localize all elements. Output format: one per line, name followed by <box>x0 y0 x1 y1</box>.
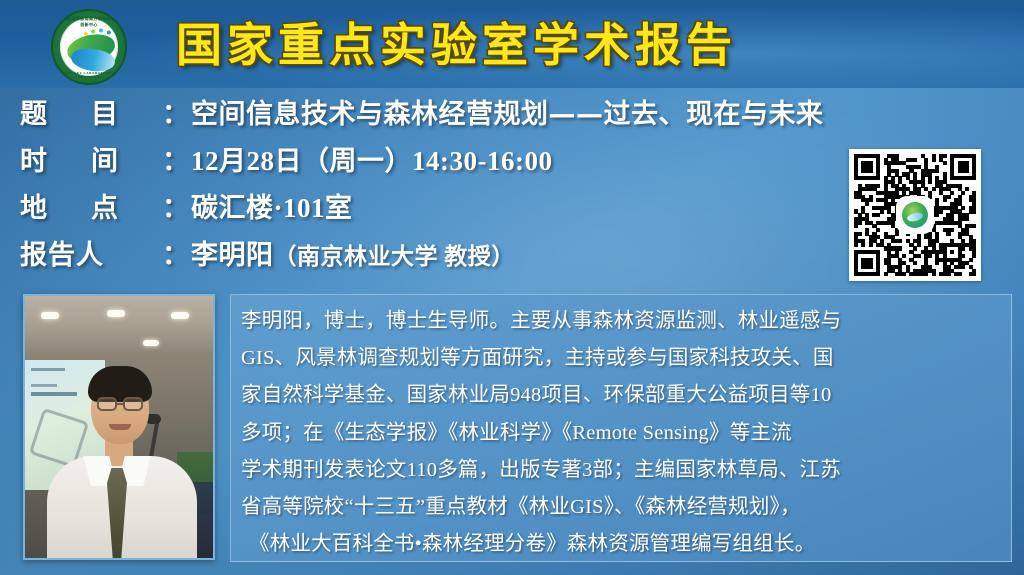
logo-top-text: 国家林业和草原局南方现代林业协同创新中心 <box>53 16 125 28</box>
photo-ceiling-light <box>143 340 159 346</box>
info-value-topic: 空间信息技术与森林经营规划——过去、现在与未来 <box>191 92 824 131</box>
qr-center-logo-inner <box>902 202 928 228</box>
info-label-topic: 题目 <box>20 92 168 131</box>
photo-ceiling-light <box>171 312 189 319</box>
bio-line: 家自然科学基金、国家林业局948项目、环保部重大公益项目等10 <box>241 377 1001 414</box>
info-label-location: 地点 <box>20 186 168 225</box>
header-band: 国家林业和草原局南方现代林业协同创新中心 STATE KEY LABORATOR… <box>0 0 1024 88</box>
info-colon-speaker: ： <box>162 233 189 272</box>
qr-code-matrix <box>854 154 976 276</box>
bio-line: 李明阳，博士，博士生导师。主要从事森林资源监测、林业遥感与 <box>241 303 1001 340</box>
info-colon-topic: ： <box>162 92 189 131</box>
info-row-speaker: 报告人 ： 李明阳（南京林业大学 教授） <box>20 233 850 280</box>
info-colon-time: ： <box>162 139 189 178</box>
bio-line: 省高等院校“十三五”重点教材《林业GIS》、《森林经营规划》， <box>241 489 1001 526</box>
info-value-speaker-affiliation: （南京林业大学 教授） <box>274 244 515 269</box>
photo-ceiling-light <box>107 310 125 317</box>
bio-line: GIS、风景林调查规划等方面研究，主持或参与国家科技攻关、国 <box>241 340 1001 377</box>
info-row-location: 地点 ： 碳汇楼·101室 <box>20 186 850 233</box>
info-row-topic: 题目 ： 空间信息技术与森林经营规划——过去、现在与未来 <box>20 92 850 139</box>
logo-dot-arc-icon <box>83 28 113 38</box>
qr-code[interactable] <box>849 149 981 281</box>
info-value-time: 12月28日（周一）14:30-16:00 <box>191 139 552 178</box>
state-key-lab-logo-icon: 国家林业和草原局南方现代林业协同创新中心 STATE KEY LABORATOR… <box>51 9 127 85</box>
photo-screen-text-line <box>31 392 77 396</box>
bio-line: 《林业大百科全书•森林经理分卷》森林资源管理编写组组长。 <box>241 526 1001 563</box>
poster-root: 国家林业和草原局南方现代林业协同创新中心 STATE KEY LABORATOR… <box>0 0 1024 575</box>
page-title: 国家重点实验室学术报告 <box>176 12 876 78</box>
bio-line: 学术期刊发表论文110多篇，出版专著3部；主编国家林草局、江苏 <box>241 452 1001 489</box>
speaker-photo <box>23 294 215 560</box>
bio-line: 多项；在《生态学报》《林业科学》《Remote Sensing》等主流 <box>241 415 1001 452</box>
photo-screen-text-line <box>31 368 65 371</box>
logo-bottom-text: STATE KEY LABORATORY OF FORESTRY <box>53 71 125 79</box>
info-value-location: 碳汇楼·101室 <box>191 186 353 225</box>
photo-glasses-right-lens <box>123 397 143 411</box>
photo-glasses-bridge <box>117 403 123 405</box>
qr-center-logo-icon <box>898 198 932 232</box>
info-label-speaker: 报告人 <box>20 233 168 272</box>
photo-ceiling-light <box>41 312 59 319</box>
info-row-time: 时间 ： 12月28日（周一）14:30-16:00 <box>20 139 850 186</box>
info-value-speaker: 李明阳（南京林业大学 教授） <box>191 233 515 272</box>
info-list: 题目 ： 空间信息技术与森林经营规划——过去、现在与未来 时间 ： 12月28日… <box>20 92 850 280</box>
photo-hair <box>88 366 152 402</box>
info-label-time: 时间 <box>20 139 168 178</box>
info-colon-location: ： <box>162 186 189 225</box>
photo-mouth <box>109 424 131 430</box>
photo-ceiling <box>25 296 213 352</box>
photo-screen-text-line <box>31 384 57 387</box>
speaker-bio-panel: 李明阳，博士，博士生导师。主要从事森林资源监测、林业遥感与 GIS、风景林调查规… <box>230 294 1012 562</box>
photo-glasses-left-lens <box>97 397 117 411</box>
